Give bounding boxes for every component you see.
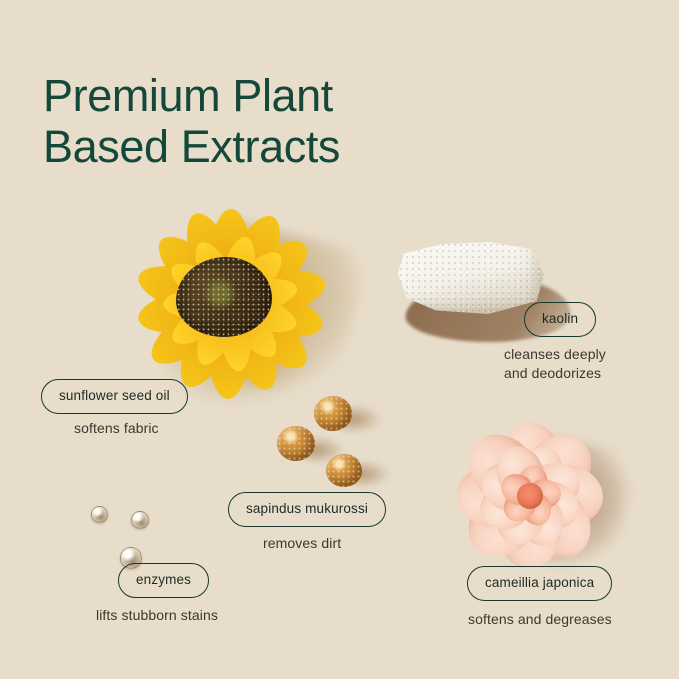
soap-nut bbox=[314, 396, 352, 431]
label-cameillia-japonica[interactable]: cameillia japonica bbox=[467, 566, 612, 601]
soap-nuts-illustration bbox=[272, 394, 397, 494]
soap-nut bbox=[277, 426, 315, 461]
enzyme-bead bbox=[91, 506, 108, 523]
camellia-center bbox=[517, 483, 543, 509]
plant-extracts-infographic: Premium Plant Based Extracts bbox=[0, 0, 679, 679]
label-sapindus-mukurossi[interactable]: sapindus mukurossi bbox=[228, 492, 386, 527]
caption-cameillia-japonica: softens and degreases bbox=[468, 610, 612, 629]
soap-nut bbox=[326, 454, 362, 487]
caption-sapindus-mukurossi: removes dirt bbox=[263, 534, 341, 553]
enzyme-bead bbox=[131, 511, 149, 529]
kaolin-clay-chunk bbox=[398, 242, 544, 314]
caption-sunflower-seed-oil: softens fabric bbox=[74, 419, 159, 438]
label-enzymes[interactable]: enzymes bbox=[118, 563, 209, 598]
label-sunflower-seed-oil[interactable]: sunflower seed oil bbox=[41, 379, 188, 414]
sunflower-seed-head bbox=[176, 257, 272, 337]
sunflower-illustration bbox=[98, 195, 363, 410]
caption-kaolin: cleanses deeply and deodorizes bbox=[504, 345, 606, 383]
page-title: Premium Plant Based Extracts bbox=[43, 70, 473, 172]
label-kaolin[interactable]: kaolin bbox=[524, 302, 596, 337]
enzyme-beads-illustration bbox=[80, 500, 190, 570]
camellia-illustration bbox=[437, 413, 622, 578]
caption-enzymes: lifts stubborn stains bbox=[96, 606, 218, 625]
